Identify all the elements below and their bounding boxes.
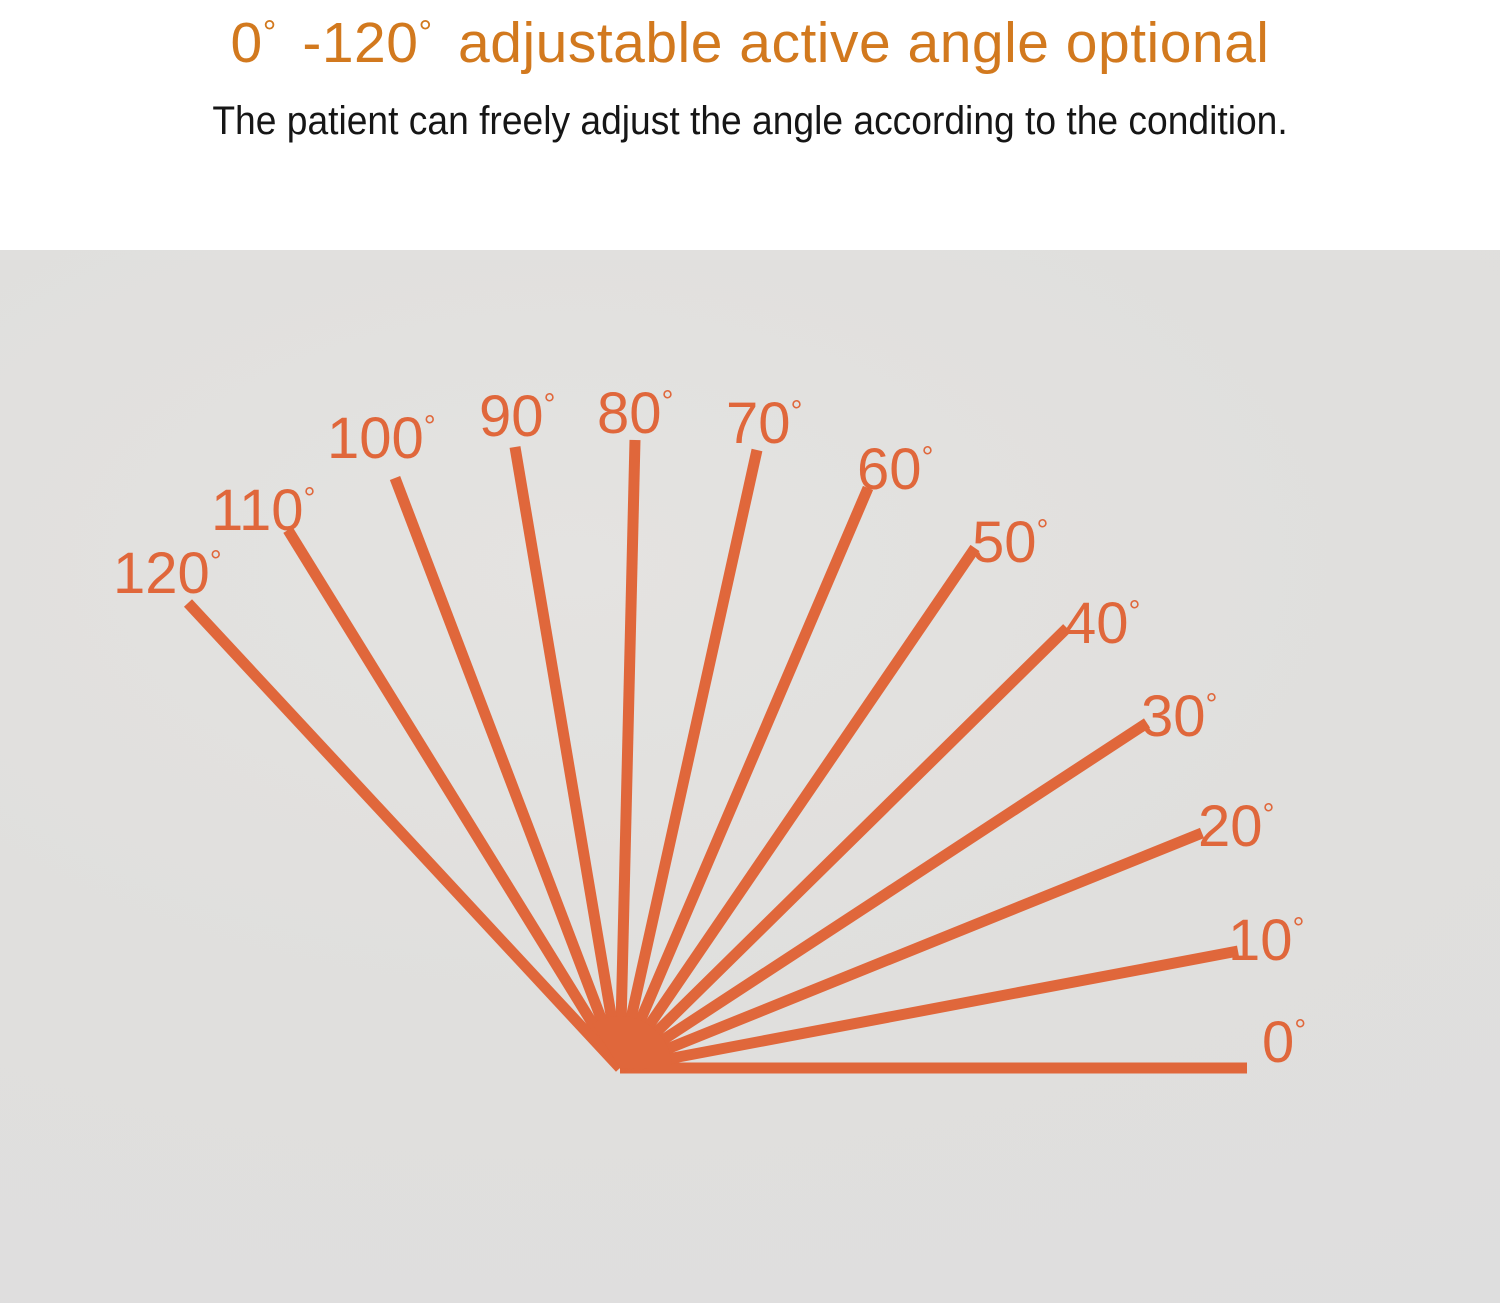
angle-label-100: 100° [327,398,436,468]
angle-label-60: 60° [857,429,934,499]
angle-label-value: 90 [479,384,544,449]
angle-ray-100 [395,478,620,1068]
angle-ray-80 [620,440,635,1068]
degree-symbol-icon: ° [210,545,222,578]
degree-symbol-icon: ° [418,14,432,52]
angle-label-70: 70° [726,383,803,453]
angle-label-0: 0° [1262,1002,1306,1072]
angle-ray-40 [620,628,1067,1068]
angle-fan-panel: 0°10°20°30°40°50°60°70°80°90°100°110°120… [0,250,1500,1303]
title-description: adjustable active angle optional [458,11,1269,75]
angle-label-value: 10 [1228,908,1293,973]
degree-symbol-icon: ° [303,482,315,515]
degree-symbol-icon: ° [922,441,934,474]
angle-label-value: 80 [597,381,662,446]
degree-symbol-icon: ° [791,395,803,428]
degree-symbol-icon: ° [263,14,277,52]
angle-label-10: 10° [1228,900,1305,970]
degree-symbol-icon: ° [662,385,674,418]
angle-label-value: 110 [211,478,303,543]
degree-symbol-icon: ° [1294,1014,1306,1047]
angle-label-90: 90° [479,376,556,446]
angle-label-value: 50 [972,510,1037,575]
angle-label-value: 70 [726,391,791,456]
angle-label-50: 50° [972,502,1049,572]
angle-label-value: 40 [1064,591,1129,656]
header-section: 0°-120°adjustable active angle optional … [0,0,1500,250]
angle-label-value: 0 [1262,1010,1294,1075]
angle-label-20: 20° [1198,786,1275,856]
title-angle-min: 0 [231,11,263,75]
angle-label-value: 100 [327,406,424,471]
angle-label-value: 60 [857,437,922,502]
angle-label-value: 120 [113,541,210,606]
page-subtitle: The patient can freely adjust the angle … [53,96,1448,146]
angle-label-value: 30 [1141,684,1206,749]
page-title: 0°-120°adjustable active angle optional [0,2,1500,74]
angle-label-value: 20 [1198,794,1263,859]
angle-label-80: 80° [597,373,674,443]
angle-adjustment-infographic: 0°-120°adjustable active angle optional … [0,0,1500,1303]
degree-symbol-icon: ° [1129,595,1141,628]
title-angle-max: -120 [302,11,418,75]
angle-label-30: 30° [1141,676,1218,746]
degree-symbol-icon: ° [424,410,436,443]
degree-symbol-icon: ° [1263,798,1275,831]
angle-label-120: 120° [113,533,222,603]
degree-symbol-icon: ° [1293,912,1305,945]
degree-symbol-icon: ° [544,388,556,421]
degree-symbol-icon: ° [1206,688,1218,721]
angle-label-40: 40° [1064,583,1141,653]
degree-symbol-icon: ° [1037,514,1049,547]
angle-label-110: 110° [211,470,315,540]
